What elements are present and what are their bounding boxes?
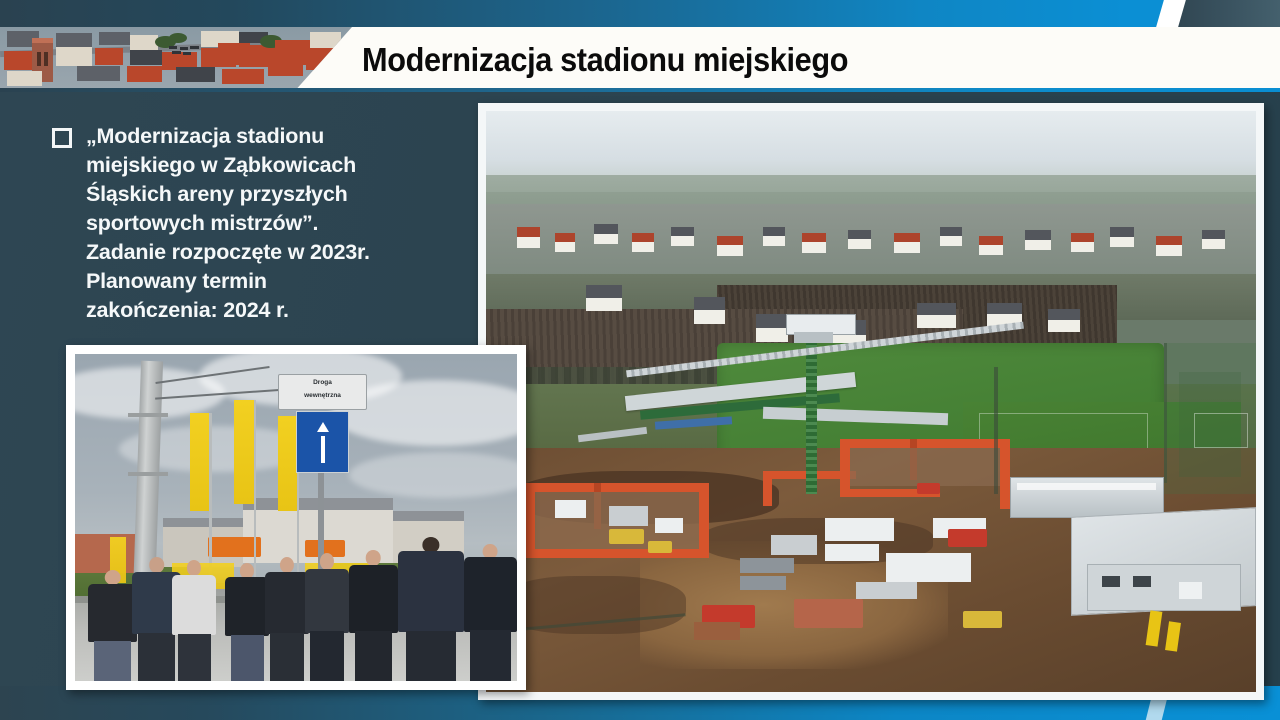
site-visit-photo: Droga wewnętrzna <box>66 345 526 690</box>
slide-title: Modernizacja stadionu miejskiego <box>362 36 1069 84</box>
header-banner-photo <box>0 27 352 90</box>
aerial-photo-art <box>486 111 1256 692</box>
presentation-slide: 2023 <box>0 0 1280 720</box>
road-sign-line1: Droga <box>279 379 365 387</box>
checkbox-square-bullet-icon <box>52 128 72 148</box>
bullet-list: „Modernizacja stadionu miejskiego w Ząbk… <box>52 122 452 325</box>
bullet-text: „Modernizacja stadionu miejskiego w Ząbk… <box>86 122 370 325</box>
road-sign-line2: wewnętrzna <box>279 392 365 400</box>
top-strip-dark-segment <box>1168 0 1280 27</box>
aerial-construction-photo <box>478 103 1264 700</box>
top-accent-strip <box>0 0 1280 27</box>
title-underline <box>0 88 1280 92</box>
street-photo-art: Droga wewnętrzna <box>75 354 517 681</box>
